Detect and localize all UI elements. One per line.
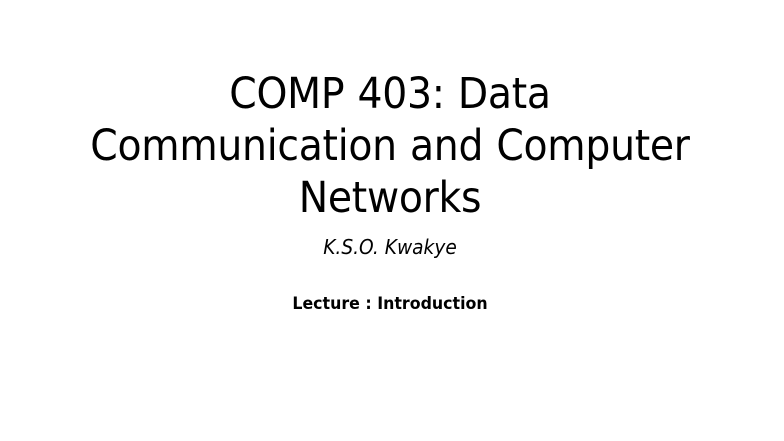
- lecture-placeholder: Lecture : Introduction: [62, 293, 718, 316]
- author-placeholder: K.S.O. Kwakye: [62, 234, 718, 260]
- page-title: COMP 403: Data Communication and Compute…: [90, 68, 690, 224]
- title-slide: COMP 403: Data Communication and Compute…: [0, 0, 784, 441]
- title-placeholder: COMP 403: Data Communication and Compute…: [62, 68, 718, 224]
- lecture-label: Lecture : Introduction: [85, 293, 695, 316]
- author-name: K.S.O. Kwakye: [85, 234, 695, 260]
